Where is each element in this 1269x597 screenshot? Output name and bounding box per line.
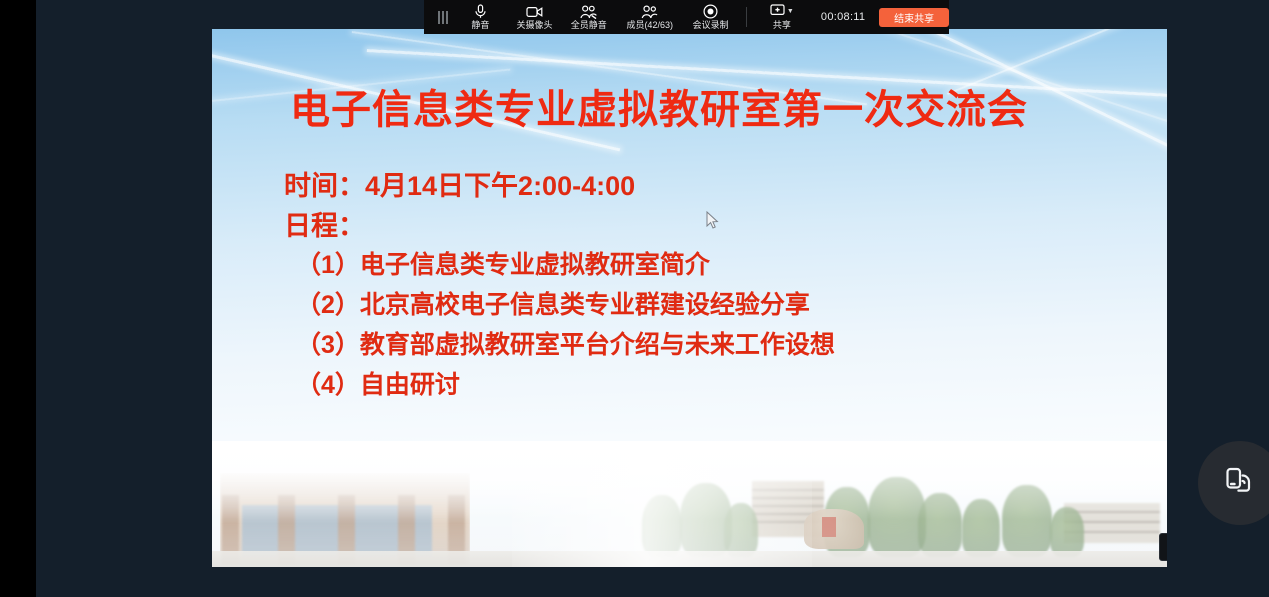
record-button[interactable]: 会议录制 bbox=[684, 0, 738, 34]
mute-all-button[interactable]: 全员静音 bbox=[562, 0, 616, 34]
meeting-timer: 00:08:11 bbox=[821, 11, 865, 23]
mouse-pointer bbox=[706, 211, 719, 230]
camera-button[interactable]: 关摄像头 bbox=[507, 0, 561, 34]
chevron-down-icon[interactable]: ▼ bbox=[787, 8, 794, 15]
toolbar-drag-handle[interactable] bbox=[424, 11, 453, 24]
slide-agenda-item-1: （1）电子信息类专业虚拟教研室简介 bbox=[296, 245, 710, 281]
video-camera-icon bbox=[526, 4, 543, 19]
slide-time-line: 时间：4月14日下午2:00-4:00 bbox=[284, 164, 635, 203]
presentation-slide: 电子信息类专业虚拟教研室第一次交流会 时间：4月14日下午2:00-4:00 日… bbox=[212, 29, 1167, 567]
share-button[interactable]: ▼ 共享 bbox=[755, 0, 809, 34]
camera-button-label: 关摄像头 bbox=[517, 20, 553, 30]
meeting-window: 电子信息类专业虚拟教研室第一次交流会 时间：4月14日下午2:00-4:00 日… bbox=[36, 0, 1269, 597]
screen-cast-icon bbox=[1223, 464, 1257, 503]
participants-icon bbox=[641, 4, 658, 19]
record-button-label: 会议录制 bbox=[693, 20, 729, 30]
mute-all-button-label: 全员静音 bbox=[571, 20, 607, 30]
slide-agenda-item-3: （3）教育部虚拟教研室平台介绍与未来工作设想 bbox=[296, 325, 835, 361]
shared-screen-stage[interactable]: 电子信息类专业虚拟教研室第一次交流会 时间：4月14日下午2:00-4:00 日… bbox=[212, 29, 1167, 567]
mute-button-label: 静音 bbox=[471, 20, 489, 30]
status-pill[interactable]: 会议中 ⌄ bbox=[1159, 533, 1167, 561]
share-screen-icon: ▼ bbox=[770, 4, 794, 19]
slide-agenda-item-4: （4）自由研讨 bbox=[296, 365, 460, 401]
mute-all-icon bbox=[580, 4, 598, 19]
screen-cast-fab[interactable] bbox=[1198, 441, 1269, 525]
slide-text-block: 电子信息类专业虚拟教研室第一次交流会 时间：4月14日下午2:00-4:00 日… bbox=[212, 29, 1167, 567]
slide-title: 电子信息类专业虚拟教研室第一次交流会 bbox=[290, 77, 1110, 135]
toolbar-divider bbox=[746, 7, 747, 27]
meeting-toolbar[interactable]: 静音 关摄像头 bbox=[424, 0, 949, 34]
end-share-button[interactable]: 结束共享 bbox=[879, 8, 949, 27]
slide-agenda-label: 日程： bbox=[284, 204, 365, 243]
microphone-icon bbox=[474, 4, 487, 19]
share-button-label: 共享 bbox=[773, 20, 791, 30]
record-icon bbox=[703, 4, 718, 19]
slide-agenda-item-2: （2）北京高校电子信息类专业群建设经验分享 bbox=[296, 285, 810, 321]
app-root: 电子信息类专业虚拟教研室第一次交流会 时间：4月14日下午2:00-4:00 日… bbox=[0, 0, 1269, 597]
mute-button[interactable]: 静音 bbox=[453, 0, 507, 34]
participants-button-label: 成员(42/63) bbox=[626, 20, 673, 30]
participants-button[interactable]: 成员(42/63) bbox=[616, 0, 684, 34]
